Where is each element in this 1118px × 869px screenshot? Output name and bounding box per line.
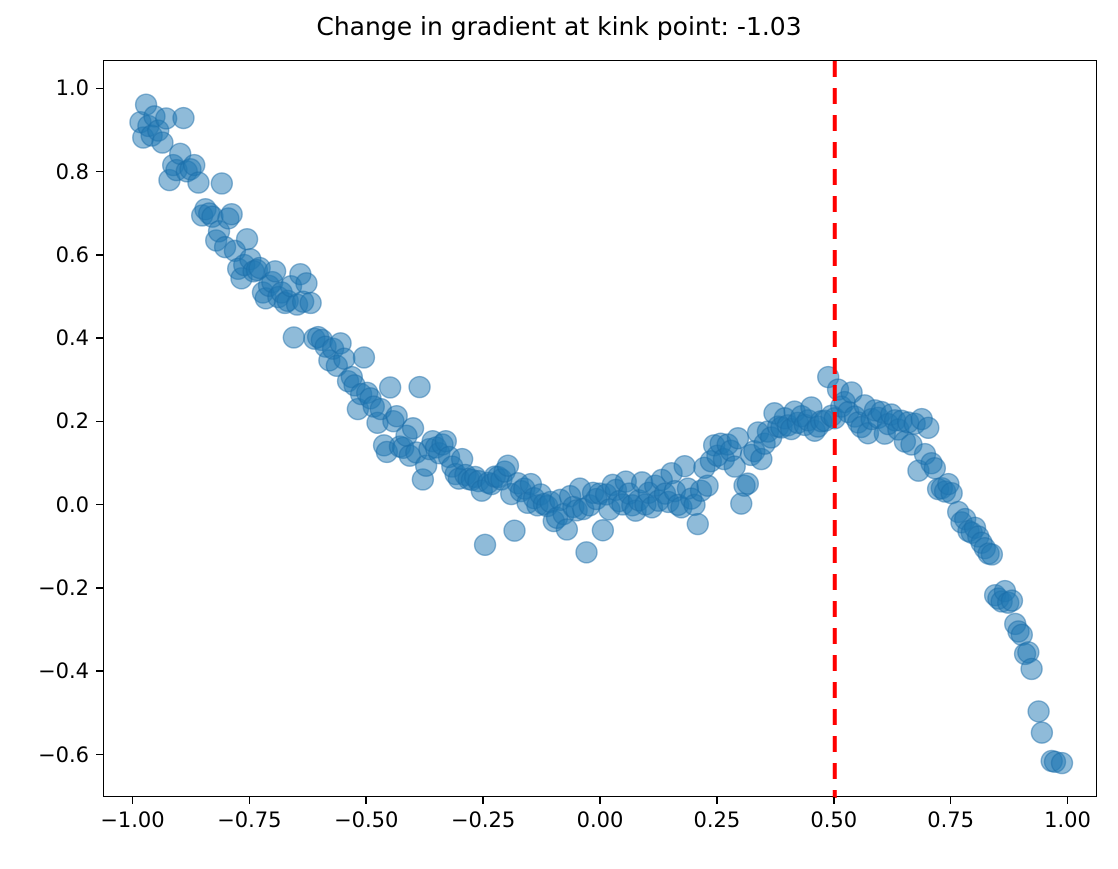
- x-tick-label: −0.75: [189, 808, 309, 832]
- scatter-point: [283, 327, 304, 348]
- scatter-point: [697, 475, 718, 496]
- scatter-point: [674, 456, 695, 477]
- y-tick-mark: [96, 337, 103, 339]
- y-tick-label: 0.8: [17, 160, 89, 184]
- y-tick-mark: [96, 587, 103, 589]
- scatter-point: [941, 483, 962, 504]
- x-tick-label: 0.75: [891, 808, 1011, 832]
- y-tick-mark: [96, 88, 103, 90]
- x-tick-label: −1.00: [72, 808, 192, 832]
- plot-axes-area: [103, 60, 1097, 797]
- scatter-point: [353, 347, 374, 368]
- y-tick-mark: [96, 754, 103, 756]
- scatter-point: [380, 377, 401, 398]
- x-tick-label: 0.50: [774, 808, 894, 832]
- scatter-point: [556, 519, 577, 540]
- y-tick-label: −0.4: [17, 659, 89, 683]
- scatter-point: [918, 417, 939, 438]
- y-tick-label: 0.0: [17, 493, 89, 517]
- x-tick-label: 0.25: [657, 808, 777, 832]
- x-tick-label: −0.25: [423, 808, 543, 832]
- x-tick-mark: [132, 797, 134, 804]
- y-tick-label: 0.2: [17, 409, 89, 433]
- y-tick-mark: [96, 421, 103, 423]
- scatter-point: [504, 520, 525, 541]
- scatter-point: [265, 261, 286, 282]
- x-tick-mark: [716, 797, 718, 804]
- x-tick-mark: [365, 797, 367, 804]
- scatter-point: [981, 544, 1002, 565]
- y-tick-label: 0.4: [17, 326, 89, 350]
- scatter-point: [592, 520, 613, 541]
- x-tick-mark: [599, 797, 601, 804]
- scatter-point: [1031, 722, 1052, 743]
- scatter-point: [173, 108, 194, 129]
- matplotlib-figure: Change in gradient at kink point: -1.03 …: [0, 0, 1118, 869]
- y-tick-mark: [96, 504, 103, 506]
- scatter-point: [1021, 658, 1042, 679]
- scatter-point: [687, 514, 708, 535]
- x-tick-mark: [482, 797, 484, 804]
- scatter-point: [211, 173, 232, 194]
- scatter-plot-canvas: [104, 61, 1098, 798]
- scatter-point: [409, 377, 430, 398]
- scatter-point: [576, 542, 597, 563]
- scatter-point: [296, 273, 317, 294]
- scatter-point: [1052, 753, 1073, 774]
- scatter-point: [1028, 701, 1049, 722]
- scatter-point: [237, 229, 258, 250]
- y-tick-mark: [96, 670, 103, 672]
- scatter-point: [403, 418, 424, 439]
- x-tick-label: 1.00: [1008, 808, 1118, 832]
- scatter-point: [737, 473, 758, 494]
- scatter-point: [300, 292, 321, 313]
- x-tick-mark: [833, 797, 835, 804]
- scatter-point: [1001, 590, 1022, 611]
- y-tick-mark: [96, 171, 103, 173]
- x-tick-mark: [1067, 797, 1069, 804]
- scatter-point: [221, 204, 242, 225]
- x-tick-mark: [249, 797, 251, 804]
- scatter-point: [188, 172, 209, 193]
- y-tick-label: −0.6: [17, 743, 89, 767]
- x-tick-label: −0.50: [306, 808, 426, 832]
- scatter-point: [475, 534, 496, 555]
- y-tick-label: 0.6: [17, 243, 89, 267]
- y-tick-mark: [96, 254, 103, 256]
- x-tick-label: 0.00: [540, 808, 660, 832]
- y-tick-label: −0.2: [17, 576, 89, 600]
- x-tick-mark: [950, 797, 952, 804]
- y-tick-label: 1.0: [17, 76, 89, 100]
- scatter-points-layer: [130, 94, 1073, 773]
- chart-title: Change in gradient at kink point: -1.03: [0, 12, 1118, 41]
